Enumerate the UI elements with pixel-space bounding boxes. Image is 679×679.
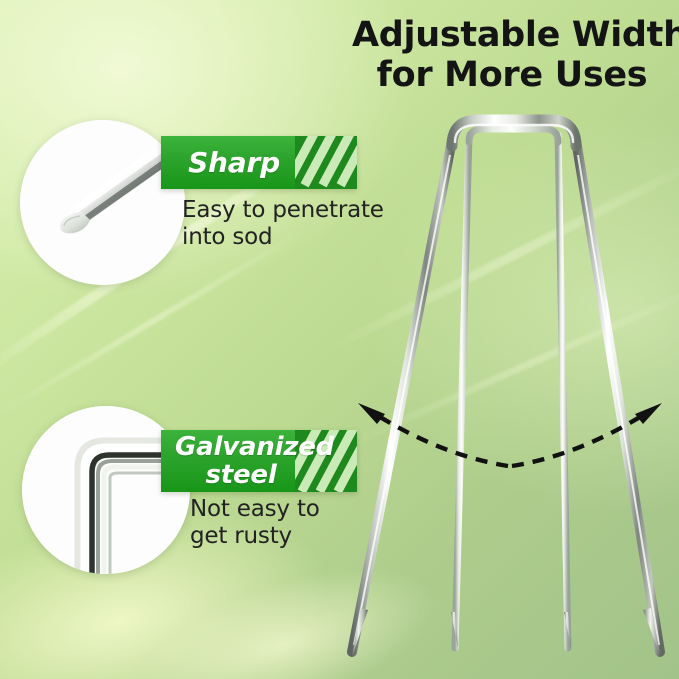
subtitle-line-1: Not easy to [190, 496, 320, 523]
infographic-canvas: Adjustable Width for More Uses [0, 0, 679, 679]
subtitle-line-2: into sod [182, 224, 384, 251]
feature-banner-galvanized-steel: Galvanized steel [161, 430, 357, 492]
title-line-2: for More Uses [352, 56, 672, 96]
subtitle-line-1: Easy to penetrate [182, 197, 384, 224]
title-line-1: Adjustable Width [352, 16, 672, 56]
product-staple-illustration [0, 0, 679, 679]
dashed-arrow-right [635, 403, 662, 424]
banner-line-1: Galvanized [175, 433, 307, 461]
banner-line-2: steel [175, 461, 307, 489]
dashed-arrow-left [358, 403, 385, 424]
banner-line-1: Sharp ends [188, 146, 280, 189]
banner-text-galvanized-steel: Galvanized steel [161, 430, 357, 489]
feature-banner-sharp-ends: Sharp ends [161, 136, 357, 189]
page-title: Adjustable Width for More Uses [352, 16, 672, 96]
banner-text-sharp-ends: Sharp ends [161, 136, 357, 189]
feature-subtitle-sharp-ends: Easy to penetrate into sod [182, 197, 384, 250]
subtitle-line-2: get rusty [190, 523, 320, 550]
adjustable-width-arrows [372, 412, 648, 466]
feature-subtitle-galvanized-steel: Not easy to get rusty [190, 496, 320, 549]
